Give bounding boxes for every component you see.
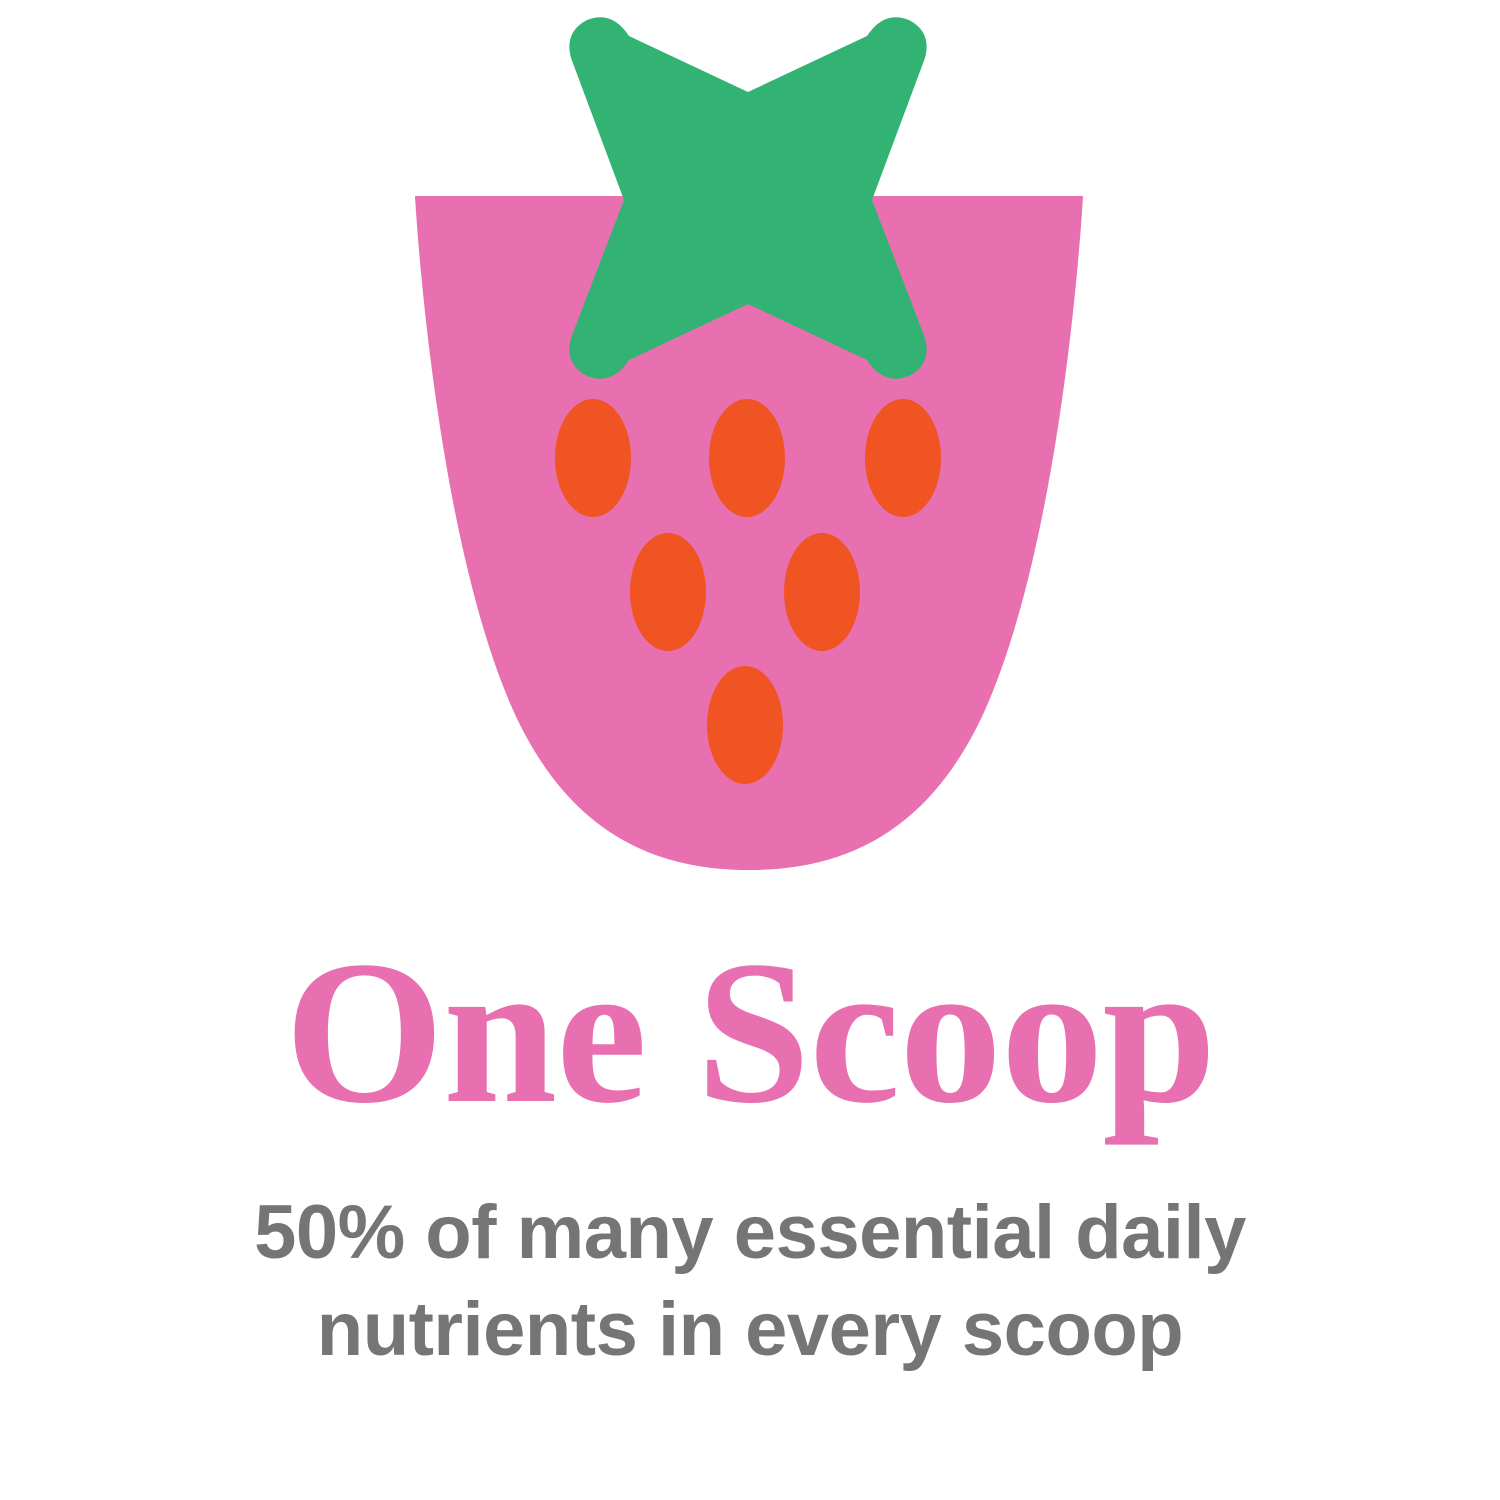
strawberry-seed [630, 533, 706, 651]
brand-tagline-line-1: 50% of many essential daily [130, 1185, 1370, 1282]
strawberry-seed [865, 399, 941, 517]
strawberry-icon [0, 0, 1500, 900]
strawberry-seed [709, 399, 785, 517]
strawberry-seed [707, 666, 783, 784]
logo-card: One Scoop 50% of many essential daily nu… [0, 0, 1500, 1500]
brand-tagline-line-2: nutrients in every scoop [130, 1282, 1370, 1379]
strawberry-seed [784, 533, 860, 651]
brand-title: One Scoop [0, 930, 1500, 1135]
strawberry-seed [555, 399, 631, 517]
brand-tagline: 50% of many essential daily nutrients in… [130, 1185, 1370, 1378]
